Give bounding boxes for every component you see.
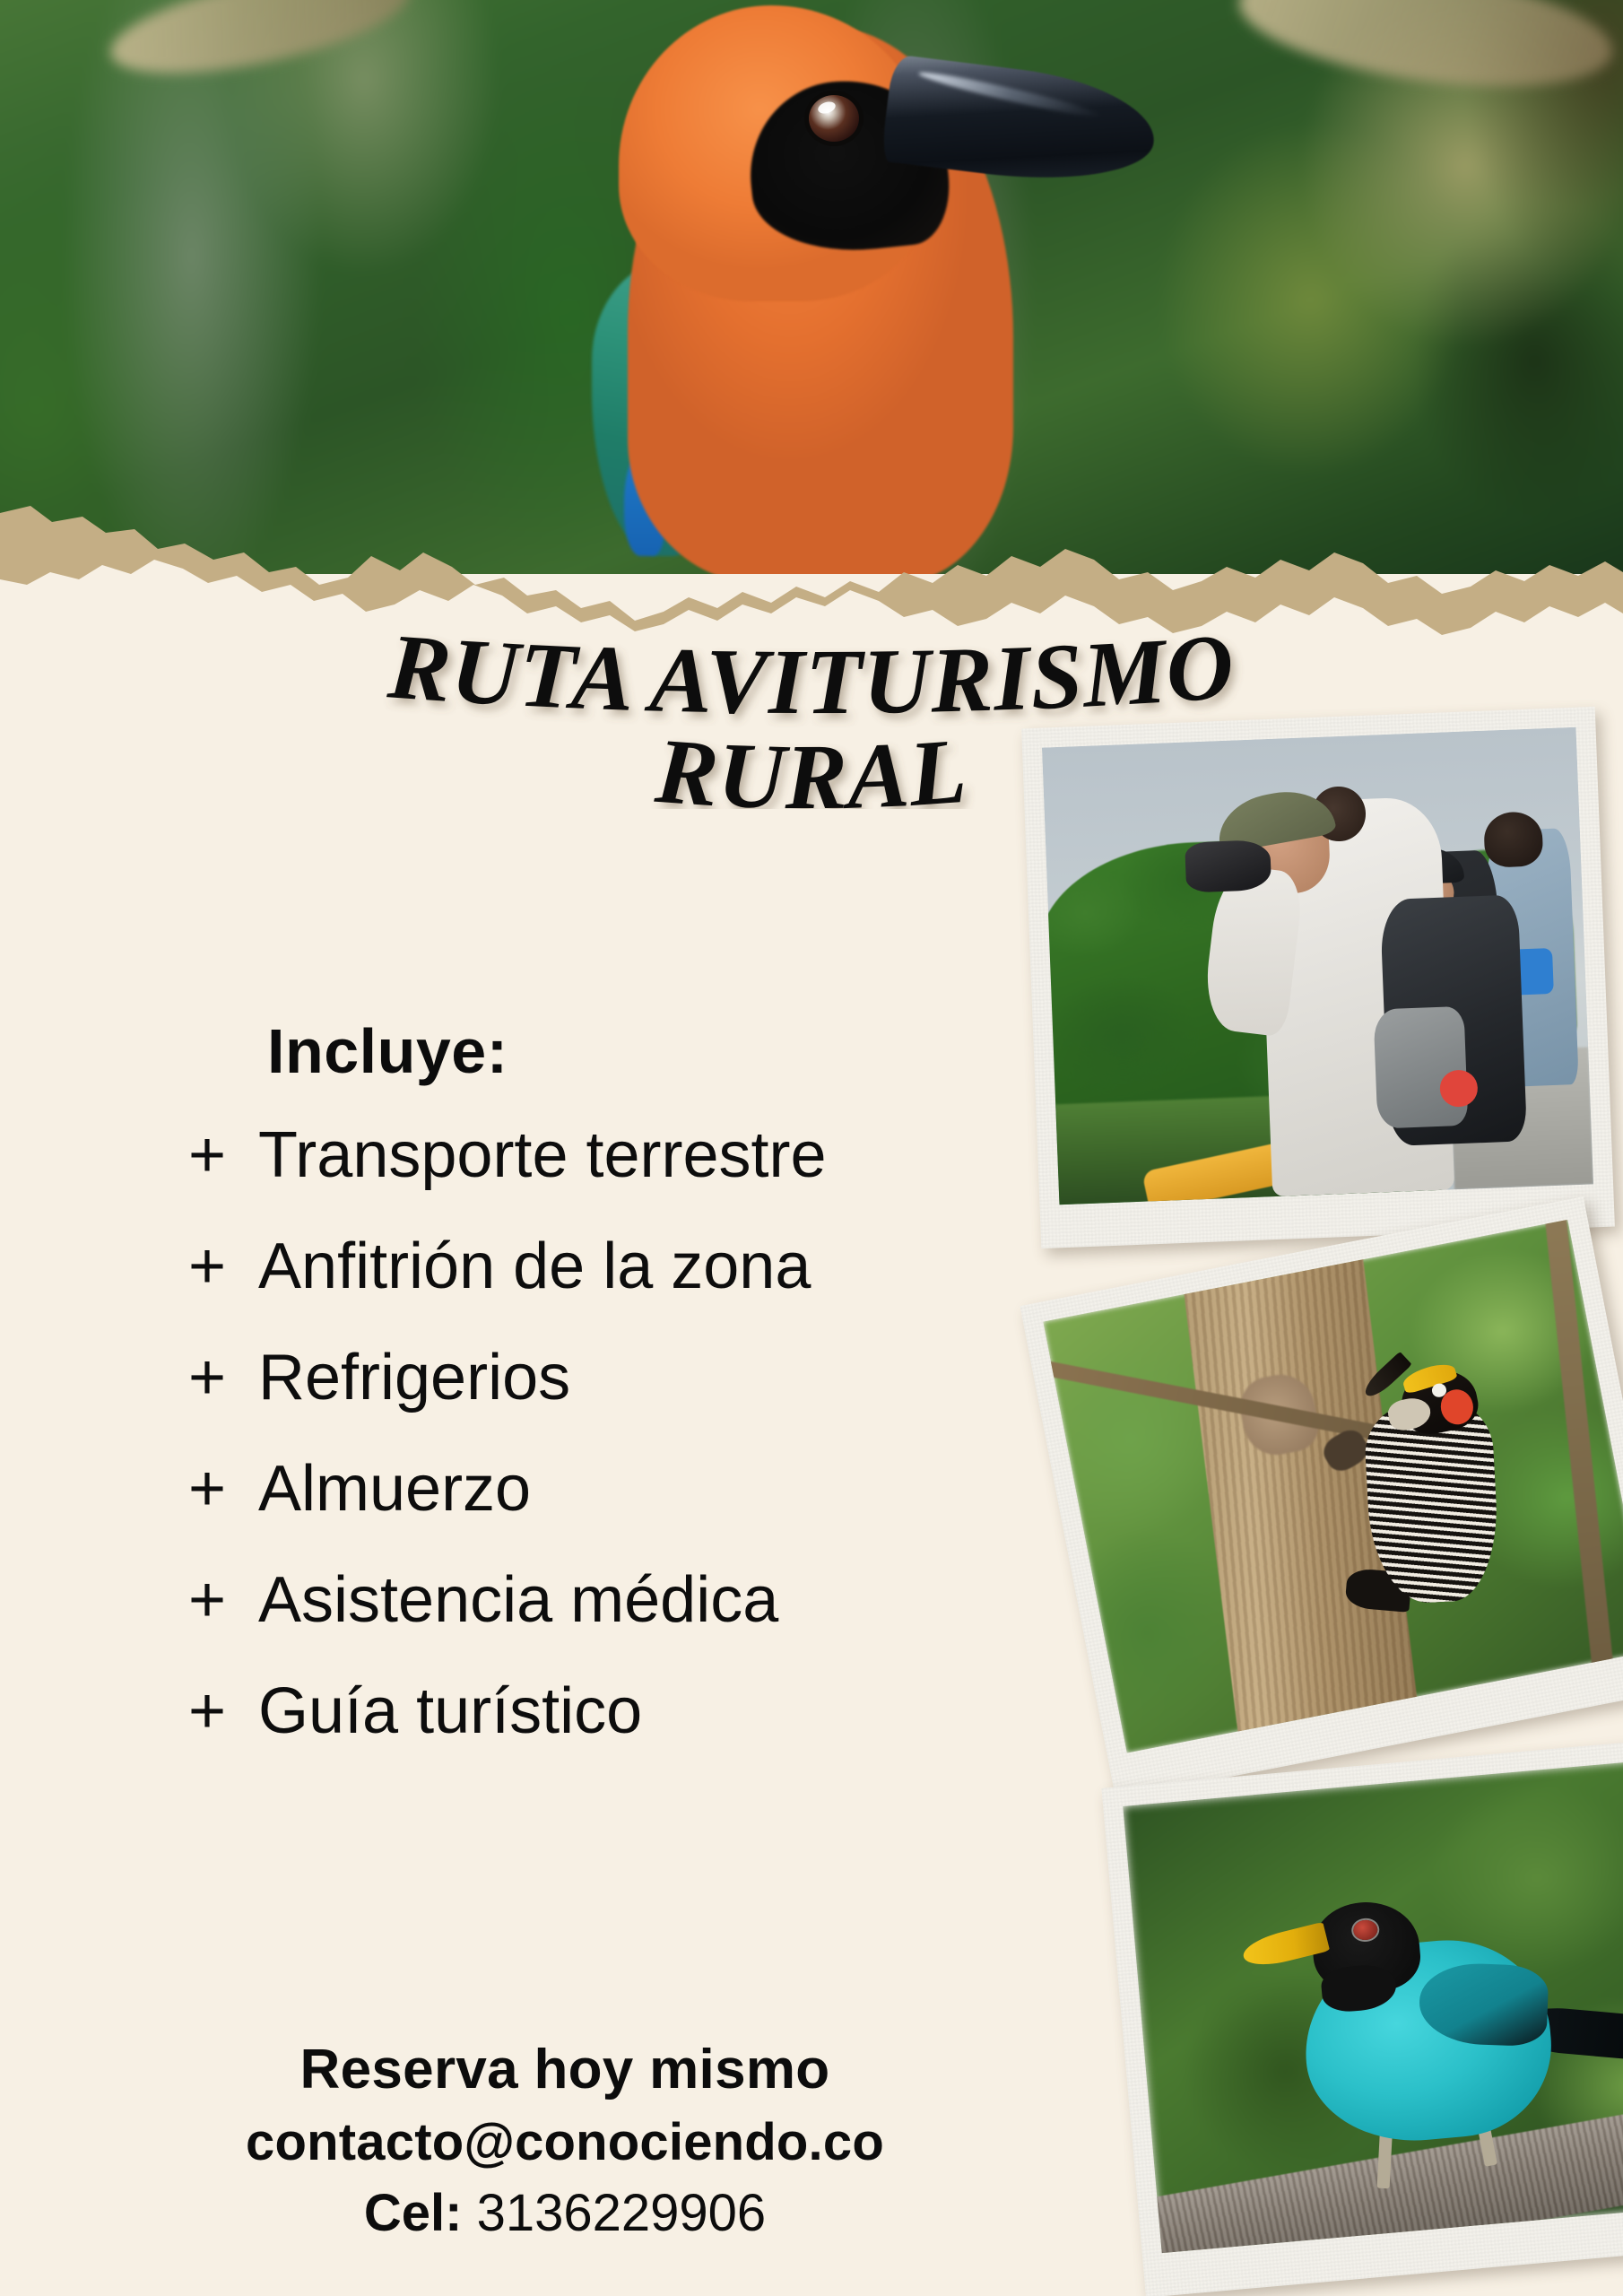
- list-item-label: Asistencia médica: [258, 1568, 778, 1632]
- plus-icon: +: [188, 1568, 258, 1632]
- bird-eye: [809, 95, 859, 142]
- reserve-cta: Reserva hoy mismo: [0, 2038, 1130, 2101]
- plus-icon: +: [188, 1345, 258, 1410]
- plus-icon: +: [188, 1679, 258, 1744]
- photo-backpack-pocket: [1373, 1006, 1468, 1128]
- title-line-2: RURAL: [652, 719, 971, 809]
- list-item-label: Transporte terrestre: [258, 1123, 827, 1187]
- list-item: + Asistencia médica: [188, 1568, 977, 1632]
- birdwatchers-photo: [1042, 727, 1593, 1205]
- contact-phone[interactable]: Cel: 3136229906: [0, 2183, 1130, 2243]
- svg-text:RUTA AVITURISMO: RUTA AVITURISMO: [385, 614, 1238, 734]
- includes-section: Incluye: + Transporte terrestre + Anfitr…: [188, 1015, 977, 1790]
- green-honeycreeper-photo: [1123, 1760, 1623, 2253]
- woodpecker-photo: [1043, 1220, 1623, 1753]
- list-item-label: Guía turístico: [258, 1679, 642, 1744]
- contact-email[interactable]: contacto@conociendo.co: [0, 2112, 1130, 2172]
- list-item: + Guía turístico: [188, 1679, 977, 1744]
- binoculars-icon: [1185, 839, 1271, 893]
- list-item-label: Anfitrión de la zona: [258, 1234, 811, 1299]
- contact-block: Reserva hoy mismo contacto@conociendo.co…: [0, 2038, 1130, 2243]
- list-item: + Refrigerios: [188, 1345, 977, 1410]
- plus-icon: +: [188, 1457, 258, 1521]
- poster-root: RUTA AVITURISMO RURAL Incluye: + Transpo…: [0, 0, 1623, 2296]
- svg-text:RURAL: RURAL: [652, 719, 971, 809]
- list-item-label: Almuerzo: [258, 1457, 531, 1521]
- photo-frame-birdwatchers: [1021, 707, 1615, 1248]
- list-item: + Almuerzo: [188, 1457, 977, 1521]
- title-line-1: RUTA AVITURISMO: [385, 614, 1238, 734]
- plus-icon: +: [188, 1234, 258, 1299]
- photo-frame-woodpecker: [1020, 1196, 1623, 1799]
- plus-icon: +: [188, 1123, 258, 1187]
- list-item-label: Refrigerios: [258, 1345, 570, 1410]
- includes-heading: Incluye:: [267, 1015, 977, 1087]
- hero-image: [0, 0, 1623, 574]
- phone-label: Cel:: [364, 2184, 463, 2242]
- phone-number: 3136229906: [477, 2184, 767, 2242]
- list-item: + Anfitrión de la zona: [188, 1234, 977, 1299]
- list-item: + Transporte terrestre: [188, 1123, 977, 1187]
- motmot-bird: [574, 0, 1219, 538]
- photo-frame-honeycreeper: [1101, 1738, 1623, 2296]
